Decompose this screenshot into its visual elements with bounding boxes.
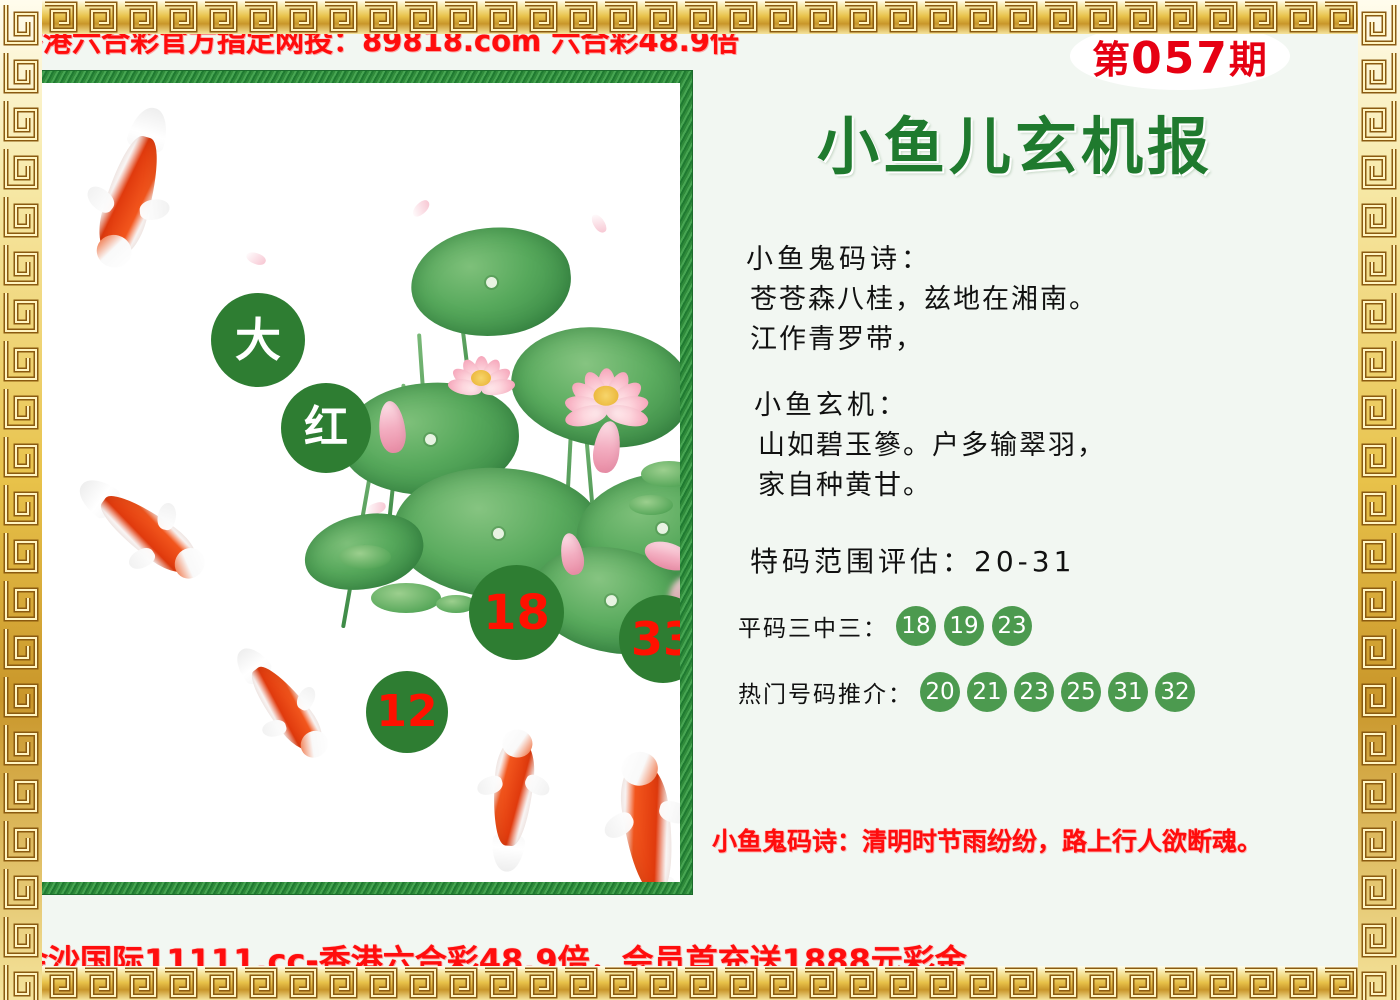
right-panel: 小鱼儿玄机报 小鱼鬼码诗： 苍苍森八桂，兹地在湘南。 江作青罗带， 小鱼玄机： …	[710, 96, 1320, 712]
koi-fin	[139, 198, 171, 221]
special-range-label: 特码范围评估：	[750, 545, 974, 578]
ball: 20	[920, 672, 960, 712]
border-right	[1358, 0, 1400, 1000]
lotus-pad	[629, 495, 673, 515]
petal-icon	[589, 212, 608, 235]
poem-2-line-2: 家自种黄甘。	[758, 466, 1320, 506]
row-sanzhongsan: 平码三中三： 18 19 23	[738, 606, 1320, 646]
issue-prefix: 第	[1092, 38, 1131, 82]
poem-2-line-1: 山如碧玉篸。户多输翠羽，	[758, 426, 1320, 466]
marker-label: 33	[631, 616, 680, 662]
koi-fish	[75, 109, 185, 284]
border-left	[0, 0, 42, 1000]
marker-12: 12	[366, 671, 448, 753]
lotus-leaf	[406, 220, 576, 344]
lotus-koi-illustration: 大 红 18 33 12	[41, 83, 680, 882]
marker-label: 18	[483, 589, 550, 637]
row-hot-numbers: 热门号码推介： 20 21 23 25 31 32	[738, 672, 1320, 712]
meander-pattern-icon	[1358, 0, 1400, 1000]
flower-core	[471, 370, 491, 386]
marker-label: 红	[304, 406, 348, 450]
koi-fish	[601, 739, 680, 882]
issue-number: 057	[1131, 33, 1229, 84]
ball: 18	[896, 606, 936, 646]
border-top	[0, 0, 1400, 34]
ball: 25	[1061, 672, 1101, 712]
marker-hong: 红	[281, 383, 371, 473]
issue-badge-text: 第057期	[1092, 29, 1268, 84]
meander-pattern-icon	[0, 966, 1400, 1000]
red-note-text: 小鱼鬼码诗：清明时节雨纷纷，路上行人欲断魂。	[712, 822, 1372, 858]
ball: 23	[992, 606, 1032, 646]
poem-block-1: 小鱼鬼码诗： 苍苍森八桂，兹地在湘南。 江作青罗带，	[746, 240, 1320, 360]
page-title: 小鱼儿玄机报	[710, 96, 1320, 186]
poem-block-2: 小鱼玄机： 山如碧玉篸。户多输翠羽， 家自种黄甘。	[754, 386, 1320, 506]
koi-fish	[478, 721, 548, 866]
poem-1-line-1: 苍苍森八桂，兹地在湘南。	[750, 280, 1320, 320]
marker-label: 大	[235, 317, 281, 363]
issue-suffix: 期	[1229, 38, 1268, 82]
poster-root: 香港六合彩官方指定网投：89818.com 六合彩48.9倍 第057期	[0, 0, 1400, 1000]
poem-2-label: 小鱼玄机：	[754, 386, 1320, 426]
meander-pattern-icon	[0, 0, 1400, 34]
row-sanzhongsan-label: 平码三中三：	[738, 609, 888, 643]
row-hot-label: 热门号码推介：	[738, 675, 913, 709]
lotus-pad	[339, 545, 391, 569]
koi-fish	[71, 466, 224, 601]
meander-pattern-icon	[0, 0, 42, 1000]
ball: 31	[1108, 672, 1148, 712]
ball: 19	[944, 606, 984, 646]
special-range-value: 20-31	[974, 545, 1075, 578]
special-range: 特码范围评估：20-31	[750, 540, 1320, 580]
lotus-flower	[562, 346, 650, 419]
ball: 21	[967, 672, 1007, 712]
lotus-flower	[446, 338, 516, 396]
lotus-pad	[371, 583, 441, 613]
picture-frame: 大 红 18 33 12	[28, 70, 693, 895]
border-bottom	[0, 966, 1400, 1000]
ball: 32	[1155, 672, 1195, 712]
koi-fish	[225, 640, 348, 776]
petal-icon	[245, 249, 268, 267]
marker-da: 大	[211, 293, 305, 387]
poem-1-line-2: 江作青罗带，	[750, 320, 1320, 360]
poem-1-label: 小鱼鬼码诗：	[746, 240, 1320, 280]
marker-label: 12	[376, 690, 437, 734]
marker-18: 18	[469, 565, 564, 660]
ball: 23	[1014, 672, 1054, 712]
koi-fin	[260, 718, 287, 740]
petal-icon	[410, 198, 432, 219]
flower-core	[594, 386, 619, 406]
